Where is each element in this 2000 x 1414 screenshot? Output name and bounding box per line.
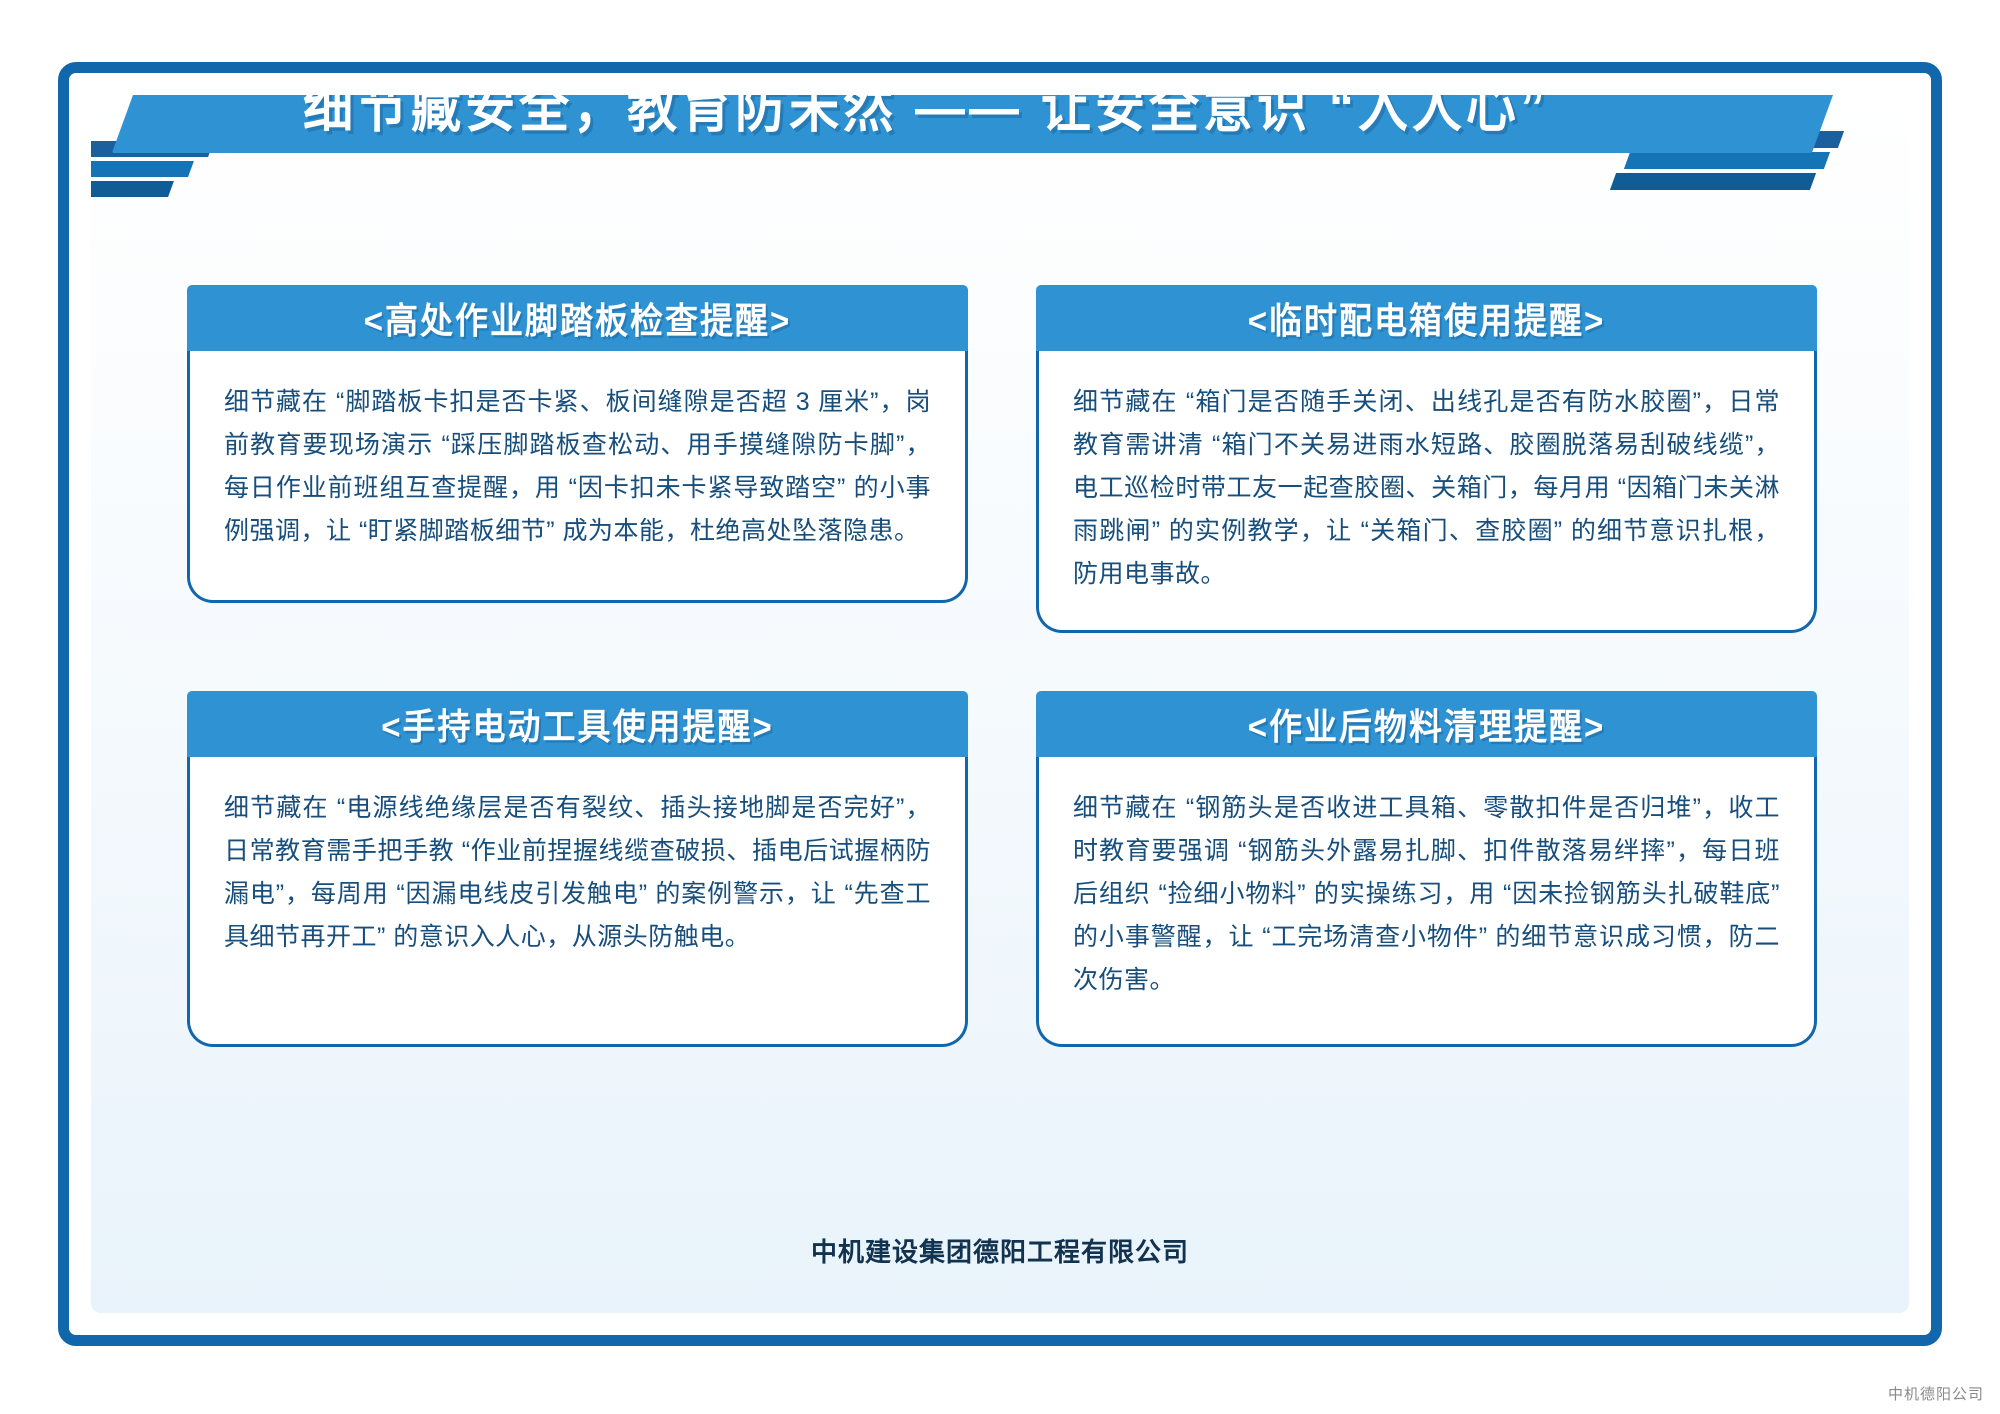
card-temp-distribution-box: <临时配电箱使用提醒> 细节藏在 “箱门是否随手关闭、出线孔是否有防水胶圈”，日… <box>1036 285 1817 633</box>
banner-stripe-left-2 <box>91 161 194 177</box>
footer: 中机建设集团德阳工程有限公司 <box>91 1232 1909 1269</box>
card-text-1: 细节藏在 “脚踏板卡扣是否卡紧、板间缝隙是否超 3 厘米”，岗前教育要现场演示 … <box>224 381 931 553</box>
card-header-label-2: <临时配电箱使用提醒> <box>1248 292 1606 344</box>
banner-title-wrapper: 细节藏安全，教育防未然 —— 让安全意识 “入人心” <box>91 95 1841 153</box>
watermark: 中机德阳公司 <box>1888 1383 1984 1404</box>
watermark-text: 中机德阳公司 <box>1888 1386 1984 1403</box>
card-header-label-1: <高处作业脚踏板检查提醒> <box>364 292 792 344</box>
card-header-label-3: <手持电动工具使用提醒> <box>381 698 774 750</box>
banner-shape <box>112 95 1870 153</box>
company-name: 中机建设集团德阳工程有限公司 <box>811 1237 1189 1267</box>
banner-stripe-right-1 <box>1638 131 1844 148</box>
card-text-4: 细节藏在 “钢筋头是否收进工具箱、零散扣件是否归堆”，收工时教育要强调 “钢筋头… <box>1073 787 1780 1002</box>
card-text-3: 细节藏在 “电源线绝缘层是否有裂纹、插头接地脚是否完好”，日常教育需手把手教 “… <box>224 787 931 959</box>
banner-stripe-left-1 <box>91 141 214 157</box>
card-header-label-4: <作业后物料清理提醒> <box>1248 698 1606 750</box>
page-title: 细节藏安全，教育防未然 —— 让安全意识 “入人心” <box>303 95 1549 143</box>
card-grid: <高处作业脚踏板检查提醒> 细节藏在 “脚踏板卡扣是否卡紧、板间缝隙是否超 3 … <box>187 285 1817 1047</box>
card-handheld-power-tool: <手持电动工具使用提醒> 细节藏在 “电源线绝缘层是否有裂纹、插头接地脚是否完好… <box>187 691 968 1047</box>
card-body-1: 细节藏在 “脚踏板卡扣是否卡紧、板间缝隙是否超 3 厘米”，岗前教育要现场演示 … <box>187 351 968 603</box>
card-body-4: 细节藏在 “钢筋头是否收进工具箱、零散扣件是否归堆”，收工时教育要强调 “钢筋头… <box>1036 757 1817 1047</box>
card-text-2: 细节藏在 “箱门是否随手关闭、出线孔是否有防水胶圈”，日常教育需讲清 “箱门不关… <box>1073 381 1780 596</box>
card-post-work-cleanup: <作业后物料清理提醒> 细节藏在 “钢筋头是否收进工具箱、零散扣件是否归堆”，收… <box>1036 691 1817 1047</box>
card-header-3: <手持电动工具使用提醒> <box>187 691 968 757</box>
card-body-3: 细节藏在 “电源线绝缘层是否有裂纹、插头接地脚是否完好”，日常教育需手把手教 “… <box>187 757 968 1047</box>
banner-stripe-right-2 <box>1624 152 1830 169</box>
card-body-2: 细节藏在 “箱门是否随手关闭、出线孔是否有防水胶圈”，日常教育需讲清 “箱门不关… <box>1036 351 1817 633</box>
poster-frame: 细节藏安全，教育防未然 —— 让安全意识 “入人心” <高处作业脚踏板检查提醒>… <box>58 62 1942 1346</box>
card-header-1: <高处作业脚踏板检查提醒> <box>187 285 968 351</box>
banner-stripe-right-3 <box>1610 173 1816 190</box>
banner-stripe-left-3 <box>91 181 174 197</box>
poster-inner: 细节藏安全，教育防未然 —— 让安全意识 “入人心” <高处作业脚踏板检查提醒>… <box>91 95 1909 1313</box>
banner-decoration: 细节藏安全，教育防未然 —— 让安全意识 “入人心” <box>91 95 1861 205</box>
card-header-4: <作业后物料清理提醒> <box>1036 691 1817 757</box>
card-high-work-footboard: <高处作业脚踏板检查提醒> 细节藏在 “脚踏板卡扣是否卡紧、板间缝隙是否超 3 … <box>187 285 968 633</box>
card-header-2: <临时配电箱使用提醒> <box>1036 285 1817 351</box>
